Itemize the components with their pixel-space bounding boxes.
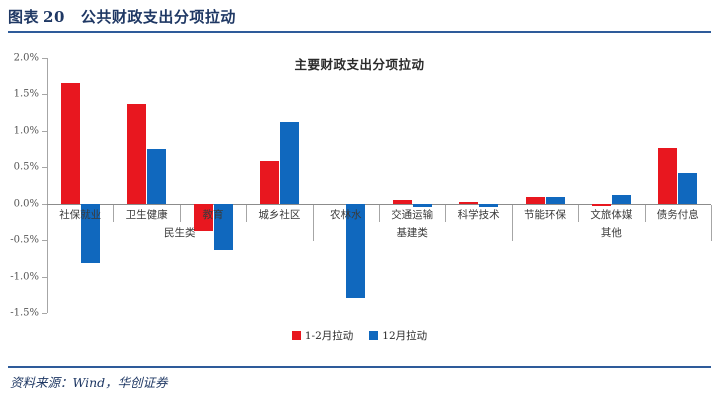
category-label-文旅体媒: 文旅体媒 [578, 207, 644, 222]
exhibit-number: 20 [43, 8, 65, 26]
bar-12月拉动-城乡社区 [280, 122, 299, 204]
legend-swatch [292, 331, 301, 340]
category-label-城乡社区: 城乡社区 [246, 207, 312, 222]
category-separator [645, 205, 646, 222]
legend-label: 12月拉动 [382, 328, 427, 343]
category-separator [379, 205, 380, 222]
plot-area: 2.0%1.5%1.0%0.5%0.0%-0.5%-1.0%-1.5% 社保就业… [47, 58, 711, 313]
bar-12月拉动-节能环保 [546, 197, 565, 204]
page-title: 图表20公共财政支出分项拉动 [8, 6, 236, 27]
bar-1-2月拉动-交通运输 [393, 200, 412, 204]
chart-legend: 1-2月拉动12月拉动 [0, 328, 719, 343]
bar-1-2月拉动-社保就业 [61, 83, 80, 204]
y-axis-tick-label: -0.5% [10, 235, 39, 246]
legend-item-12月拉动[interactable]: 12月拉动 [369, 328, 427, 343]
y-axis-tick-label: 0.5% [14, 162, 39, 173]
category-separator [578, 205, 579, 222]
bar-1-2月拉动-债务付息 [658, 148, 677, 204]
category-label-农林水: 农林水 [313, 207, 379, 222]
header-divider [8, 31, 711, 33]
legend-swatch [369, 331, 378, 340]
y-axis-tick-label: 2.0% [14, 53, 39, 64]
category-separator [512, 205, 513, 222]
category-separator [313, 205, 314, 222]
y-axis-tick [42, 313, 47, 314]
exhibit-header: 图表20公共财政支出分项拉动 [0, 0, 719, 38]
bar-1-2月拉动-科学技术 [459, 202, 478, 204]
group-label-民生类: 民生类 [140, 225, 220, 240]
legend-item-1-2月拉动[interactable]: 1-2月拉动 [292, 328, 353, 343]
category-separator [180, 205, 181, 222]
y-axis-tick-label: 0.0% [14, 198, 39, 209]
group-label-其他: 其他 [571, 225, 651, 240]
category-separator [445, 205, 446, 222]
exhibit-title-text: 公共财政支出分项拉动 [81, 8, 236, 26]
bar-1-2月拉动-文旅体媒 [592, 204, 611, 206]
category-separator [113, 205, 114, 222]
bar-12月拉动-债务付息 [678, 173, 697, 204]
footer-divider [8, 366, 711, 368]
plot-right-edge [711, 205, 712, 241]
bar-1-2月拉动-节能环保 [526, 197, 545, 204]
bar-1-2月拉动-城乡社区 [260, 161, 279, 204]
source-note: 资料来源：Wind，华创证券 [10, 372, 168, 391]
exhibit-word: 图表 [8, 8, 39, 26]
category-label-教育: 教育 [180, 207, 246, 222]
y-axis-tick-label: 1.0% [14, 125, 39, 136]
group-label-基建类: 基建类 [372, 225, 452, 240]
category-label-社保就业: 社保就业 [47, 207, 113, 222]
category-label-卫生健康: 卫生健康 [113, 207, 179, 222]
legend-label: 1-2月拉动 [305, 328, 353, 343]
category-label-科学技术: 科学技术 [445, 207, 511, 222]
category-label-节能环保: 节能环保 [512, 207, 578, 222]
y-axis-tick-label: -1.5% [10, 308, 39, 319]
category-label-交通运输: 交通运输 [379, 207, 445, 222]
y-axis-tick-label: -1.0% [10, 271, 39, 282]
y-axis-tick-label: 1.5% [14, 89, 39, 100]
bars-layer [47, 58, 711, 313]
category-separator [246, 205, 247, 222]
category-label-债务付息: 债务付息 [645, 207, 711, 222]
chart-container: 主要财政支出分项拉动 2.0%1.5%1.0%0.5%0.0%-0.5%-1.0… [0, 40, 719, 364]
bar-1-2月拉动-卫生健康 [127, 104, 146, 204]
bar-12月拉动-文旅体媒 [612, 195, 631, 204]
bar-12月拉动-卫生健康 [147, 149, 166, 204]
